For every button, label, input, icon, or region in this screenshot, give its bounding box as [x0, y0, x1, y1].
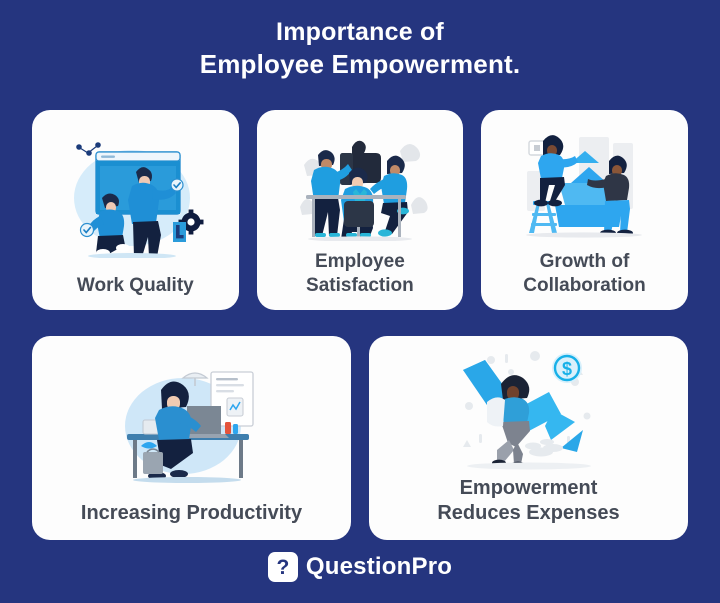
dollar-coin-badge: $ [552, 353, 582, 383]
page-title: Importance of Employee Empowerment. [0, 16, 720, 80]
card-employee-satisfaction[interactable]: Employee Satisfaction [257, 110, 464, 310]
questionpro-logo-icon: ? [268, 552, 298, 582]
title-line-1: Importance of [0, 16, 720, 48]
card-label: Growth of Collaboration [515, 250, 653, 310]
work-quality-illustration [32, 120, 239, 274]
card-increasing-productivity[interactable]: Increasing Productivity [32, 336, 351, 540]
coins-pile [525, 439, 563, 457]
svg-text:$: $ [561, 359, 571, 379]
increasing-productivity-illustration [32, 344, 351, 501]
brand-footer: ? QuestionPro [0, 552, 720, 582]
empowerment-reduces-expenses-icon: $ [449, 348, 609, 472]
card-label: Empowerment Reduces Expenses [429, 476, 627, 540]
employee-satisfaction-icon [290, 129, 430, 241]
card-label: Work Quality [69, 274, 202, 310]
card-row-bottom: Increasing Productivity [32, 336, 688, 540]
infographic-poster: Importance of Employee Empowerment. [0, 0, 720, 603]
card-label: Employee Satisfaction [298, 250, 422, 310]
card-growth-of-collaboration[interactable]: Growth of Collaboration [481, 110, 688, 310]
title-line-2: Employee Empowerment. [0, 48, 720, 80]
brand-name: QuestionPro [306, 553, 452, 581]
card-empowerment-reduces-expenses[interactable]: $ [369, 336, 688, 540]
card-label: Increasing Productivity [73, 501, 310, 540]
growth-of-collaboration-icon [513, 127, 655, 243]
growth-of-collaboration-illustration [481, 120, 688, 250]
empowerment-reduces-expenses-illustration: $ [369, 344, 688, 476]
work-quality-icon [60, 136, 210, 258]
card-row-top: Work Quality [32, 110, 688, 310]
employee-satisfaction-illustration [257, 120, 464, 250]
increasing-productivity-icon [109, 358, 275, 488]
card-work-quality[interactable]: Work Quality [32, 110, 239, 310]
